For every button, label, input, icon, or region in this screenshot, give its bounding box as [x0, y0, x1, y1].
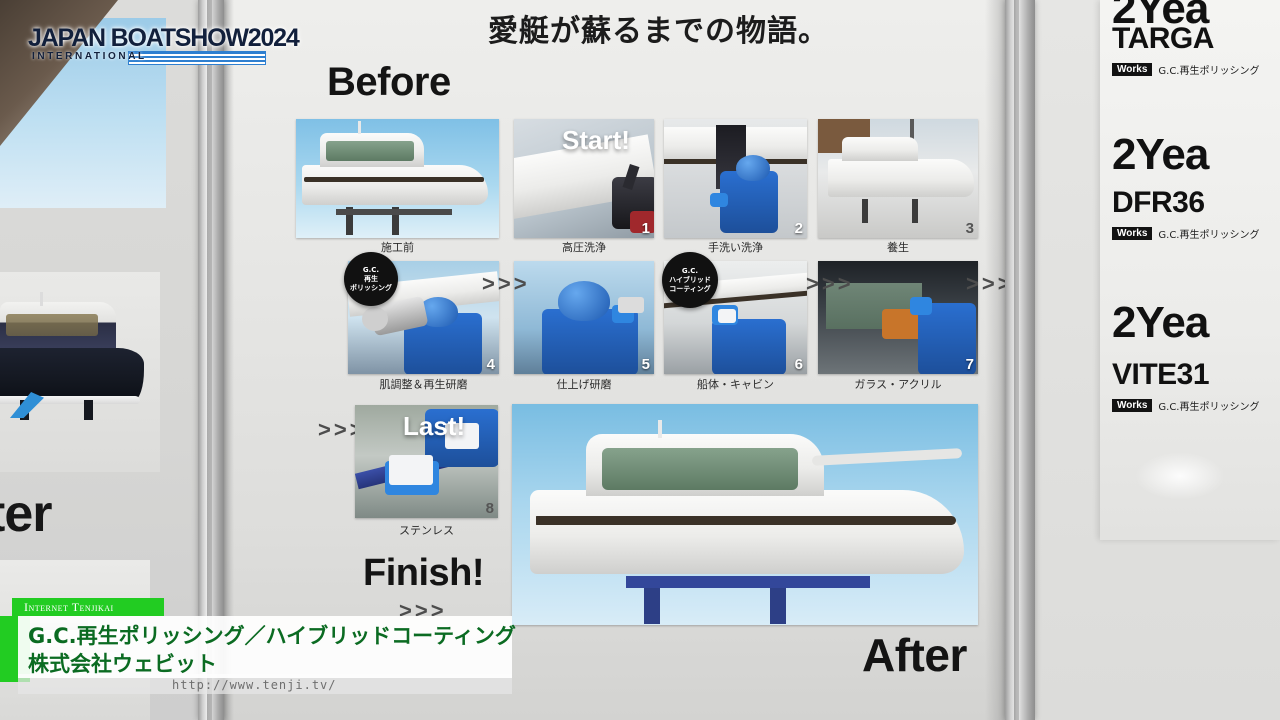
thumbnail-row3-1: Last! 8: [355, 405, 498, 518]
badge-row3-1: 8: [486, 500, 494, 517]
poster-headline: 愛艇が蘇るまでの物語。: [488, 6, 829, 50]
poster-right-model-targa: TARGA: [1112, 22, 1214, 56]
thumbnail-row1-1: [296, 119, 499, 238]
event-logo-bars: [128, 51, 266, 65]
caption-row1-2: 高圧洗浄: [514, 239, 654, 255]
after-hero-photo: [512, 404, 978, 625]
badge-line-3: ポリッシング: [350, 284, 392, 293]
thumbnail-row2-2: 5: [514, 261, 654, 374]
lower-third-url: http://www.tenji.tv/: [172, 678, 337, 692]
badge-line-2: ハイブリッド: [669, 276, 711, 285]
caption-row1-4: 養生: [818, 239, 978, 255]
badge-gc-polishing: G.C. 再生 ポリッシング: [344, 252, 398, 306]
thumbnail-row1-4: 3: [818, 119, 978, 238]
dark-boat-photo: [0, 292, 144, 420]
badge-row2-1: 4: [487, 356, 495, 373]
works-row-bot: Works G.C.再生ポリッシング: [1112, 398, 1259, 413]
works-text: G.C.再生ポリッシング: [1158, 398, 1259, 413]
badge-line-2: 再生: [364, 275, 378, 284]
event-logo-subtitle: INTERNATIONAL: [32, 51, 147, 62]
works-row-mid: Works G.C.再生ポリッシング: [1112, 226, 1259, 241]
thumbnail-row1-2: Start! 1: [514, 119, 654, 238]
frame-post-left: [198, 0, 224, 720]
works-tag: Works: [1112, 227, 1152, 240]
finish-label: Finish!: [363, 552, 484, 595]
event-logo-title: JAPAN BOATSHOW2024: [28, 24, 299, 53]
after-label: After: [862, 628, 967, 682]
badge-row2-2: 5: [642, 356, 650, 373]
caption-row2-2: 仕上げ研磨: [514, 376, 654, 392]
lower-third-line2: 株式会社ウェビット: [28, 648, 217, 678]
caption-row2-1: 肌調整＆再生研磨: [348, 376, 499, 392]
badge-line-1: G.C.: [363, 266, 379, 275]
works-row-top: Works G.C.再生ポリッシング: [1112, 62, 1259, 77]
screenshot-root: ter 愛艇が蘇るまでの物語。 Before 施工前 Start! 1 高圧洗浄: [0, 0, 1280, 720]
arrow-separator-1: >>>: [482, 271, 530, 297]
poster-right-glare: [1135, 452, 1225, 500]
frame-post-right: [1005, 0, 1035, 720]
badge-line-3: コーティング: [669, 285, 711, 294]
lower-third-tag: Internet Tenjikai: [24, 600, 114, 615]
caption-row2-4: ガラス・アクリル: [818, 376, 978, 392]
works-tag: Works: [1112, 63, 1152, 76]
overlay-last: Last!: [403, 411, 465, 442]
badge-row2-3: 6: [795, 356, 803, 373]
poster-right-model-vite31: VITE31: [1112, 358, 1209, 392]
event-logo: JAPAN BOATSHOW2024 INTERNATIONAL: [20, 24, 248, 64]
panel-edge-left: [224, 0, 234, 720]
lower-third-line1: G.C.再生ポリッシング／ハイブリッドコーティング: [28, 620, 516, 650]
caption-row3-1: ステンレス: [355, 522, 498, 538]
thumbnail-row1-3: 2: [664, 119, 807, 238]
badge-row1-4: 3: [966, 220, 974, 237]
works-tag: Works: [1112, 399, 1152, 412]
caption-row1-1: 施工前: [296, 239, 499, 255]
badge-row1-3: 2: [795, 220, 803, 237]
panel-edge-right: [985, 0, 1005, 720]
badge-line-1: G.C.: [682, 267, 698, 276]
badge-row1-2: 1: [642, 220, 650, 237]
poster-left-after-fragment: ter: [0, 484, 51, 544]
arrow-separator-2: >>>: [806, 271, 854, 297]
badge-gc-hybrid-coating: G.C. ハイブリッド コーティング: [662, 252, 718, 308]
poster-right-years-bot: 2Yea: [1112, 298, 1208, 348]
poster-right-years-mid: 2Yea: [1112, 130, 1208, 180]
badge-row2-4: 7: [966, 356, 974, 373]
poster-right-model-dfr36: DFR36: [1112, 186, 1205, 220]
before-label: Before: [327, 60, 451, 105]
works-text: G.C.再生ポリッシング: [1158, 62, 1259, 77]
caption-row2-3: 船体・キャビン: [664, 376, 807, 392]
works-text: G.C.再生ポリッシング: [1158, 226, 1259, 241]
overlay-start: Start!: [562, 125, 630, 156]
